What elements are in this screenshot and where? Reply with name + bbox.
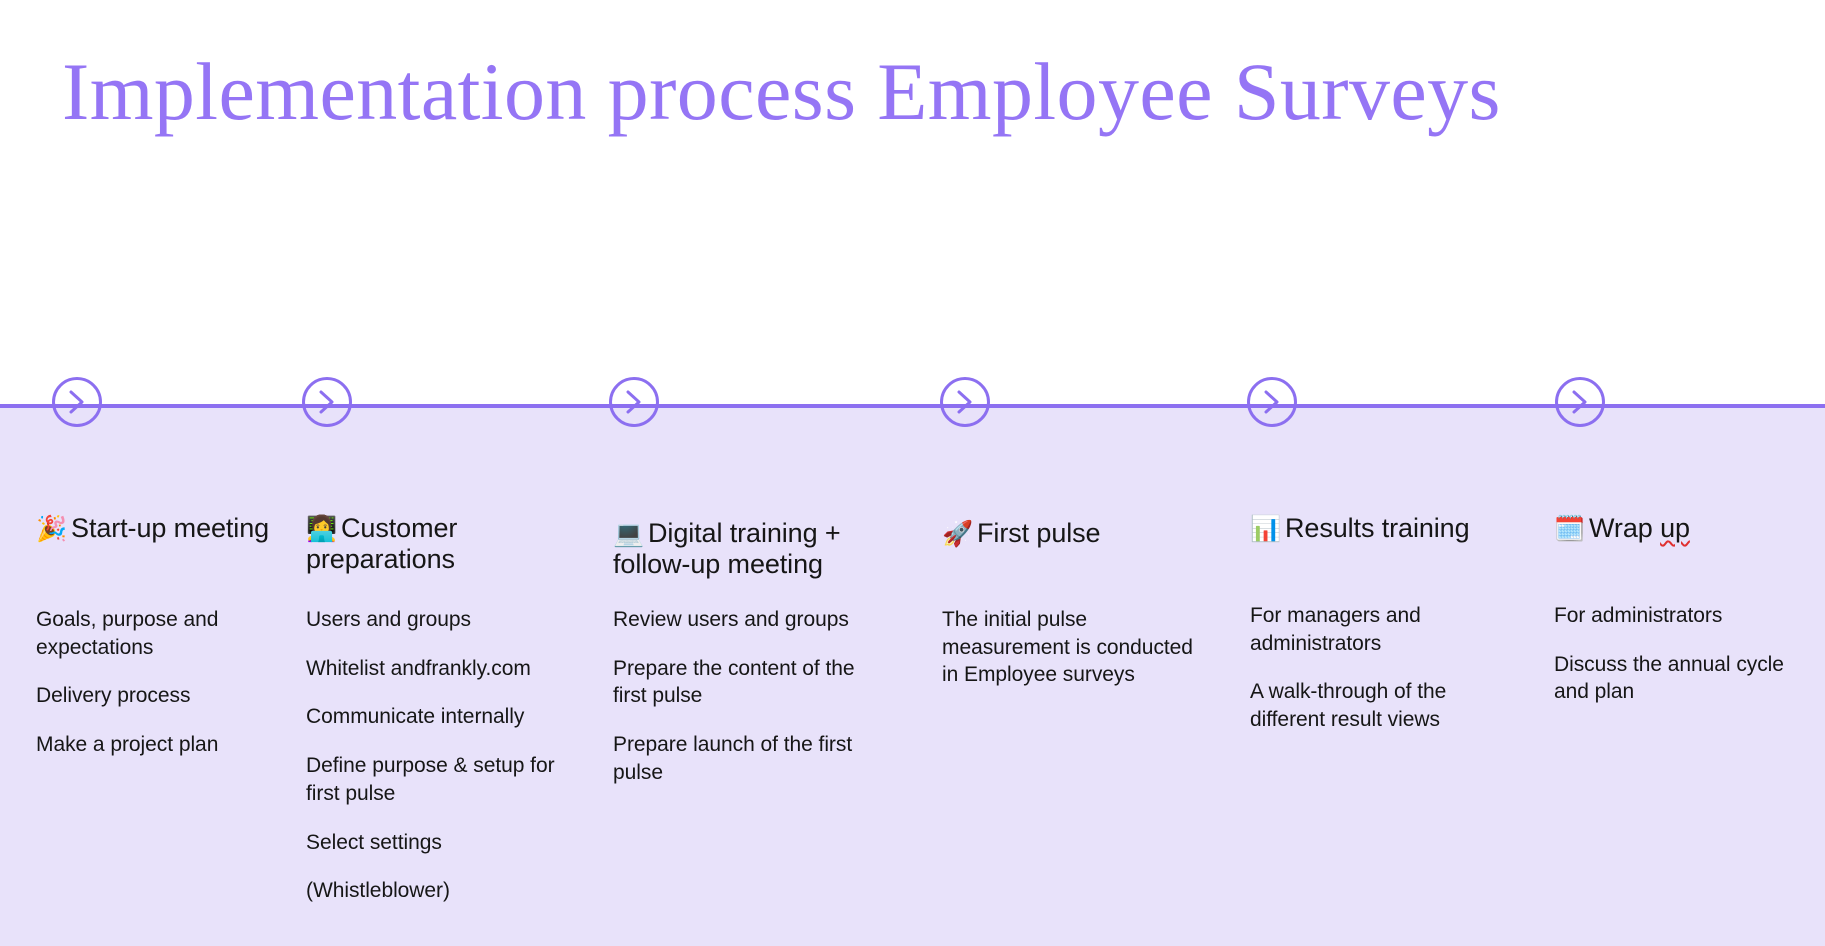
step-heading-1: 🎉Start-up meeting: [36, 513, 281, 544]
step-body-3: Review users and groups Prepare the cont…: [613, 606, 871, 787]
step-heading-4: 🚀First pulse: [942, 518, 1202, 549]
step-body-4: The initial pulse measurement is conduct…: [942, 606, 1207, 689]
step-column-6: 🗓️Wrap up For administrators Discuss the…: [1554, 406, 1814, 946]
party-popper-icon: 🎉: [36, 515, 67, 543]
step-body-6: For administrators Discuss the annual cy…: [1554, 602, 1804, 706]
step-heading-6: 🗓️Wrap up: [1554, 513, 1804, 544]
list-item: Review users and groups: [613, 606, 871, 634]
step-heading-misspelled-word: up: [1660, 513, 1690, 543]
step-column-4: 🚀First pulse The initial pulse measureme…: [942, 406, 1217, 946]
step-column-2: 👩‍💻Customer preparations Users and group…: [306, 406, 576, 946]
step-heading-label: Results training: [1285, 513, 1470, 543]
list-item: Make a project plan: [36, 731, 250, 759]
steps-container: 🎉Start-up meeting Goals, purpose and exp…: [0, 406, 1825, 946]
step-body-1: Goals, purpose and expectations Delivery…: [36, 606, 250, 759]
step-column-3: 💻Digital training + follow-up meeting Re…: [613, 406, 893, 946]
bar-chart-icon: 📊: [1250, 515, 1281, 543]
list-item: For managers and administrators: [1250, 602, 1495, 657]
step-heading-5: 📊Results training: [1250, 513, 1520, 544]
list-item: Delivery process: [36, 682, 250, 710]
list-item: Discuss the annual cycle and plan: [1554, 651, 1804, 706]
list-item: Select settings: [306, 829, 571, 857]
list-item: Whitelist andfrankly.com: [306, 655, 571, 683]
step-heading-label: Digital training + follow-up meeting: [613, 518, 841, 579]
step-column-1: 🎉Start-up meeting Goals, purpose and exp…: [36, 406, 266, 946]
list-item: (Whistleblower): [306, 877, 571, 905]
calendar-icon: 🗓️: [1554, 515, 1585, 543]
step-column-5: 📊Results training For managers and admin…: [1250, 406, 1530, 946]
list-item: Goals, purpose and expectations: [36, 606, 250, 661]
step-heading-3: 💻Digital training + follow-up meeting: [613, 518, 848, 581]
list-item: Communicate internally: [306, 703, 571, 731]
list-item: The initial pulse measurement is conduct…: [942, 606, 1207, 689]
step-heading-label: First pulse: [977, 518, 1100, 548]
list-item: A walk-through of the different result v…: [1250, 678, 1495, 733]
list-item: Users and groups: [306, 606, 571, 634]
list-item: For administrators: [1554, 602, 1804, 630]
step-body-5: For managers and administrators A walk-t…: [1250, 602, 1495, 734]
list-item: Define purpose & setup for first pulse: [306, 752, 571, 807]
step-heading-2: 👩‍💻Customer preparations: [306, 513, 506, 576]
list-item: Prepare launch of the first pulse: [613, 731, 871, 786]
page-title: Implementation process Employee Surveys: [62, 48, 1501, 137]
woman-technologist-icon: 👩‍💻: [306, 515, 337, 543]
step-heading-label: Start-up meeting: [71, 513, 269, 543]
step-heading-prefix: Wrap: [1589, 513, 1660, 543]
laptop-icon: 💻: [613, 520, 644, 548]
step-body-2: Users and groups Whitelist andfrankly.co…: [306, 606, 571, 905]
list-item: Prepare the content of the first pulse: [613, 655, 871, 710]
rocket-icon: 🚀: [942, 520, 973, 548]
